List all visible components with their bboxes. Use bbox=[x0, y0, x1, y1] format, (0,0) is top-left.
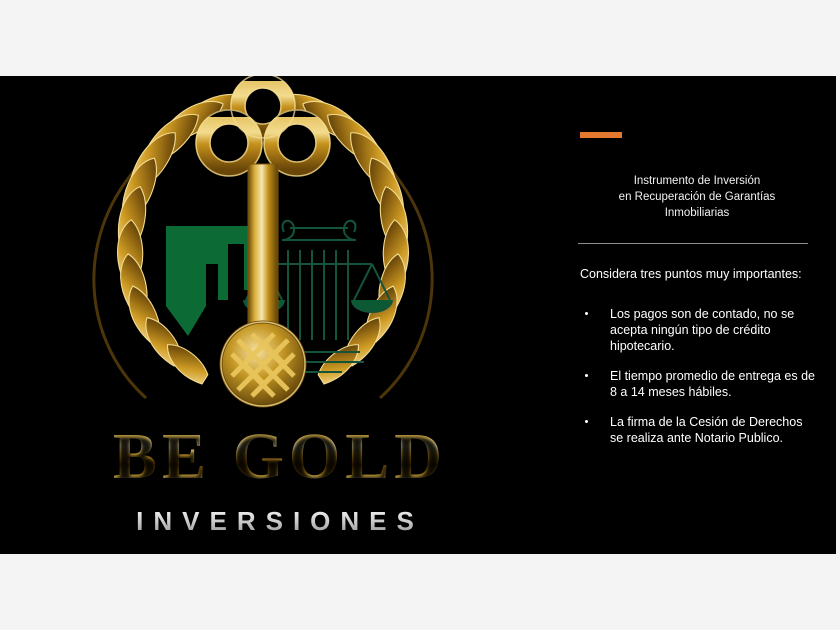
bullet-dot-icon bbox=[585, 420, 588, 423]
brand-name: BE GOLD bbox=[0, 424, 560, 490]
text-column: Instrumento de Inversión en Recuperación… bbox=[578, 76, 818, 554]
list-item-label: La firma de la Cesión de Derechos se rea… bbox=[610, 415, 802, 445]
page-root: BE GOLD INVERSIONES Instrumento de Inver… bbox=[0, 0, 840, 630]
list-item: La firma de la Cesión de Derechos se rea… bbox=[580, 414, 816, 446]
bullet-dot-icon bbox=[585, 312, 588, 315]
emblem-graphic bbox=[38, 76, 488, 438]
lead-text: Considera tres puntos muy importantes: bbox=[580, 266, 805, 282]
brand-subtitle: INVERSIONES bbox=[0, 506, 560, 537]
bullet-list: Los pagos son de contado, no se acepta n… bbox=[580, 306, 816, 460]
headline-line-1: Instrumento de Inversión bbox=[578, 173, 816, 189]
list-item: Los pagos son de contado, no se acepta n… bbox=[580, 306, 816, 354]
list-item-label: Los pagos son de contado, no se acepta n… bbox=[610, 307, 794, 353]
headline-line-2: en Recuperación de Garantías bbox=[578, 189, 816, 205]
building-skyline-icon bbox=[166, 226, 254, 336]
accent-bar bbox=[580, 132, 622, 138]
list-item: El tiempo promedio de entrega es de 8 a … bbox=[580, 368, 816, 400]
list-item-label: El tiempo promedio de entrega es de 8 a … bbox=[610, 369, 815, 399]
headline: Instrumento de Inversión en Recuperación… bbox=[578, 173, 816, 221]
slide-panel: BE GOLD INVERSIONES Instrumento de Inver… bbox=[0, 76, 836, 554]
divider bbox=[578, 243, 808, 244]
logo-area: BE GOLD INVERSIONES bbox=[0, 76, 560, 554]
bullet-dot-icon bbox=[585, 374, 588, 377]
headline-line-3: Inmobiliarias bbox=[578, 205, 816, 221]
